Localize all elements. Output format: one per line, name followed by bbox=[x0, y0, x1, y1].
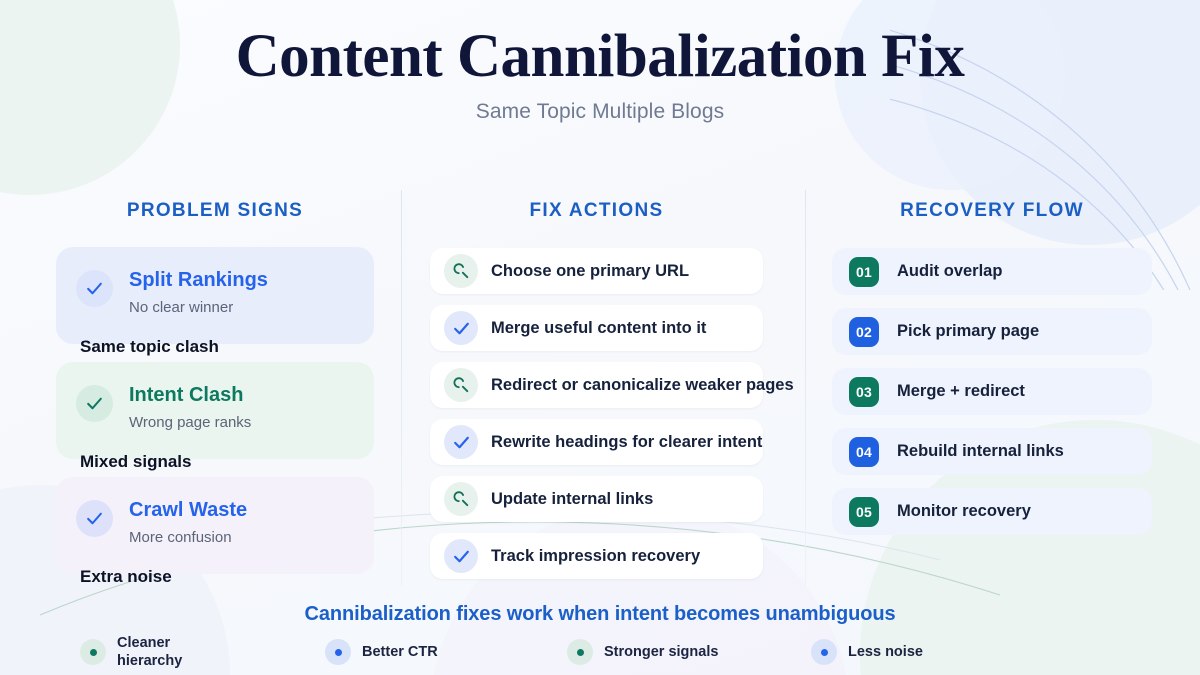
check-icon bbox=[444, 311, 478, 345]
list-item-label: Merge + redirect bbox=[897, 382, 1025, 401]
legend-item: Less noise bbox=[811, 634, 1041, 670]
fix-action-list: Choose one primary URL Merge useful cont… bbox=[430, 248, 763, 579]
legend-item-label: Cleaner hierarchy bbox=[117, 634, 207, 670]
legend-item-label: Stronger signals bbox=[604, 643, 718, 661]
column-recovery-flow: RECOVERY FLOW 01 Audit overlap 02 Pick p… bbox=[832, 200, 1152, 548]
step-number-badge: 01 bbox=[849, 257, 879, 287]
column-heading-recovery-flow: RECOVERY FLOW bbox=[832, 200, 1152, 222]
recovery-step-list: 01 Audit overlap 02 Pick primary page 03… bbox=[832, 248, 1152, 535]
infographic-canvas: Content Cannibalization Fix Same Topic M… bbox=[0, 0, 1200, 675]
legend-item: Cleaner hierarchy bbox=[80, 634, 325, 670]
list-item-label: Track impression recovery bbox=[491, 547, 700, 566]
list-item[interactable]: 02 Pick primary page bbox=[832, 308, 1152, 355]
step-number-badge: 04 bbox=[849, 437, 879, 467]
check-icon bbox=[444, 425, 478, 459]
magnifier-icon bbox=[444, 368, 478, 402]
legend-item: Better CTR bbox=[325, 634, 567, 670]
page-title: Content Cannibalization Fix bbox=[0, 22, 1200, 92]
footer-legend: Cleaner hierarchy Better CTR Stronger si… bbox=[80, 634, 1120, 670]
dot-icon bbox=[325, 639, 351, 665]
page-subtitle: Same Topic Multiple Blogs bbox=[0, 100, 1200, 124]
legend-item: Stronger signals bbox=[567, 634, 811, 670]
list-item[interactable]: 04 Rebuild internal links bbox=[832, 428, 1152, 475]
check-circle-icon bbox=[76, 500, 113, 537]
list-item-label: Redirect or canonicalize weaker pages bbox=[491, 376, 794, 395]
column-fix-actions: FIX ACTIONS Choose one primary URL Merge… bbox=[430, 200, 763, 590]
problem-card-subtitle: Wrong page ranks bbox=[129, 414, 251, 431]
step-number-badge: 03 bbox=[849, 377, 879, 407]
list-item-label: Update internal links bbox=[491, 490, 653, 509]
column-heading-problem-signs: PROBLEM SIGNS bbox=[56, 200, 374, 222]
list-item[interactable]: Merge useful content into it bbox=[430, 305, 763, 351]
list-item-label: Monitor recovery bbox=[897, 502, 1031, 521]
list-item[interactable]: Update internal links bbox=[430, 476, 763, 522]
list-item[interactable]: 01 Audit overlap bbox=[832, 248, 1152, 295]
problem-card-title: Split Rankings bbox=[129, 268, 268, 292]
problem-card-list: Split Rankings No clear winner Same topi… bbox=[56, 247, 374, 574]
dot-icon bbox=[811, 639, 837, 665]
list-item-label: Choose one primary URL bbox=[491, 262, 689, 281]
check-circle-icon bbox=[76, 385, 113, 422]
list-item[interactable]: Track impression recovery bbox=[430, 533, 763, 579]
problem-card-text: Split Rankings No clear winner bbox=[129, 264, 268, 316]
step-number-badge: 05 bbox=[849, 497, 879, 527]
problem-card-text: Crawl Waste More confusion bbox=[129, 494, 247, 546]
summary-banner: Cannibalization fixes work when intent b… bbox=[0, 603, 1200, 626]
problem-card-note: Same topic clash bbox=[80, 337, 219, 357]
step-number-badge: 02 bbox=[849, 317, 879, 347]
problem-card[interactable]: Split Rankings No clear winner Same topi… bbox=[56, 247, 374, 344]
list-item[interactable]: 05 Monitor recovery bbox=[832, 488, 1152, 535]
column-divider-1 bbox=[401, 190, 402, 586]
list-item-label: Pick primary page bbox=[897, 322, 1039, 341]
column-divider-2 bbox=[805, 190, 806, 586]
dot-icon bbox=[80, 639, 106, 665]
list-item-label: Rebuild internal links bbox=[897, 442, 1064, 461]
problem-card-title: Intent Clash bbox=[129, 383, 251, 407]
list-item-label: Audit overlap bbox=[897, 262, 1002, 281]
legend-item-label: Less noise bbox=[848, 643, 923, 661]
list-item[interactable]: Rewrite headings for clearer intent bbox=[430, 419, 763, 465]
check-circle-icon bbox=[76, 270, 113, 307]
legend-item-label: Better CTR bbox=[362, 643, 438, 661]
column-heading-fix-actions: FIX ACTIONS bbox=[430, 200, 763, 222]
check-icon bbox=[444, 539, 478, 573]
problem-card-title: Crawl Waste bbox=[129, 498, 247, 522]
list-item[interactable]: 03 Merge + redirect bbox=[832, 368, 1152, 415]
problem-card-subtitle: No clear winner bbox=[129, 299, 268, 316]
list-item-label: Rewrite headings for clearer intent bbox=[491, 433, 762, 452]
problem-card-text: Intent Clash Wrong page ranks bbox=[129, 379, 251, 431]
list-item[interactable]: Redirect or canonicalize weaker pages bbox=[430, 362, 763, 408]
problem-card[interactable]: Crawl Waste More confusion Extra noise bbox=[56, 477, 374, 574]
dot-icon bbox=[567, 639, 593, 665]
magnifier-icon bbox=[444, 482, 478, 516]
column-problem-signs: PROBLEM SIGNS Split Rankings No clear wi… bbox=[56, 200, 374, 592]
problem-card[interactable]: Intent Clash Wrong page ranks Mixed sign… bbox=[56, 362, 374, 459]
problem-card-note: Extra noise bbox=[80, 567, 172, 587]
problem-card-subtitle: More confusion bbox=[129, 529, 247, 546]
magnifier-icon bbox=[444, 254, 478, 288]
list-item-label: Merge useful content into it bbox=[491, 319, 706, 338]
list-item[interactable]: Choose one primary URL bbox=[430, 248, 763, 294]
problem-card-note: Mixed signals bbox=[80, 452, 191, 472]
